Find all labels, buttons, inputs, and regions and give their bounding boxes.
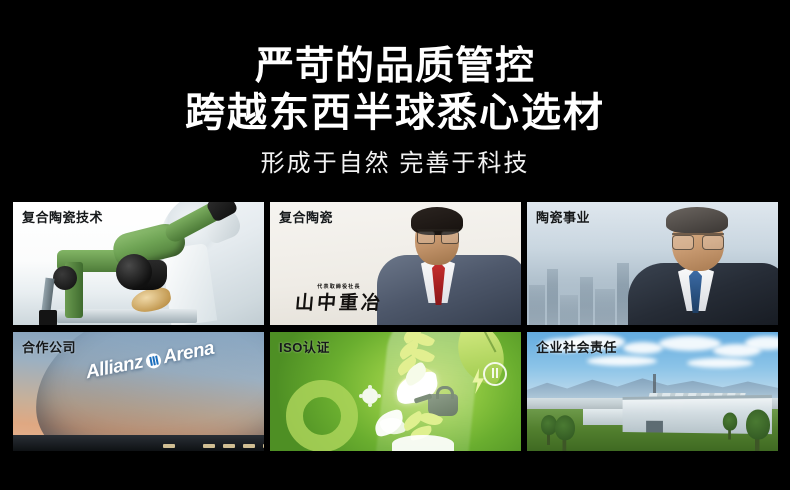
executive-figure bbox=[375, 207, 521, 325]
card-iso-certification[interactable]: ISO认证 bbox=[270, 332, 521, 451]
card-label: 复合陶瓷技术 bbox=[22, 209, 103, 227]
headline-line-1: 严苛的品质管控 bbox=[0, 44, 790, 90]
cupped-hands-icon bbox=[392, 435, 454, 451]
focus-dial bbox=[53, 266, 77, 290]
header: 严苛的品质管控 跨越东西半球悉心选材 形成于自然 完善于科技 bbox=[0, 0, 790, 196]
signature-role: 代表取締役社長 bbox=[284, 284, 394, 291]
eyeglasses bbox=[417, 229, 459, 243]
card-label: 陶瓷事业 bbox=[536, 209, 590, 227]
energy-meter-icon bbox=[483, 362, 507, 386]
tree bbox=[746, 410, 770, 452]
card-label: ISO认证 bbox=[279, 339, 330, 357]
signature-block: 代表取締役社長 山中重冶 bbox=[284, 284, 394, 315]
card-label: 复合陶瓷 bbox=[279, 209, 333, 227]
hair bbox=[666, 207, 728, 233]
signature-name: 山中重冶 bbox=[283, 292, 395, 315]
sun-icon bbox=[362, 388, 378, 404]
tree bbox=[555, 415, 575, 451]
card-partner-companies[interactable]: Allianz Arena 合作公司 bbox=[13, 332, 264, 451]
card-label: 合作公司 bbox=[22, 339, 76, 357]
headline-line-2: 跨越东西半球悉心选材 bbox=[0, 90, 790, 136]
card-ceramic-business[interactable]: 陶瓷事业 bbox=[527, 202, 778, 325]
microscope-base bbox=[39, 310, 57, 325]
headline-block: 严苛的品质管控 跨越东西半球悉心选材 形成于自然 完善于科技 bbox=[0, 0, 790, 179]
microscope-objective bbox=[116, 254, 152, 290]
foreground-ground bbox=[13, 435, 264, 451]
tree bbox=[723, 413, 737, 440]
eyeglasses bbox=[672, 233, 724, 248]
card-composite-ceramic[interactable]: 代表取締役社長 山中重冶 复合陶瓷 bbox=[270, 202, 521, 325]
green-ring-shape bbox=[286, 380, 358, 451]
card-corporate-social-responsibility[interactable]: 企业社会责任 bbox=[527, 332, 778, 451]
allianz-logo-icon bbox=[144, 352, 162, 370]
image-grid: 复合陶瓷技术 代表取締役社長 山中重冶 复合陶瓷 bbox=[13, 202, 778, 451]
promo-banner: 严苛的品质管控 跨越东西半球悉心选材 形成于自然 完善于科技 bbox=[0, 0, 790, 490]
card-label: 企业社会责任 bbox=[536, 339, 617, 357]
card-composite-ceramic-technology[interactable]: 复合陶瓷技术 bbox=[13, 202, 264, 325]
executive-figure bbox=[628, 209, 778, 325]
subheadline: 形成于自然 完善于科技 bbox=[0, 149, 790, 179]
